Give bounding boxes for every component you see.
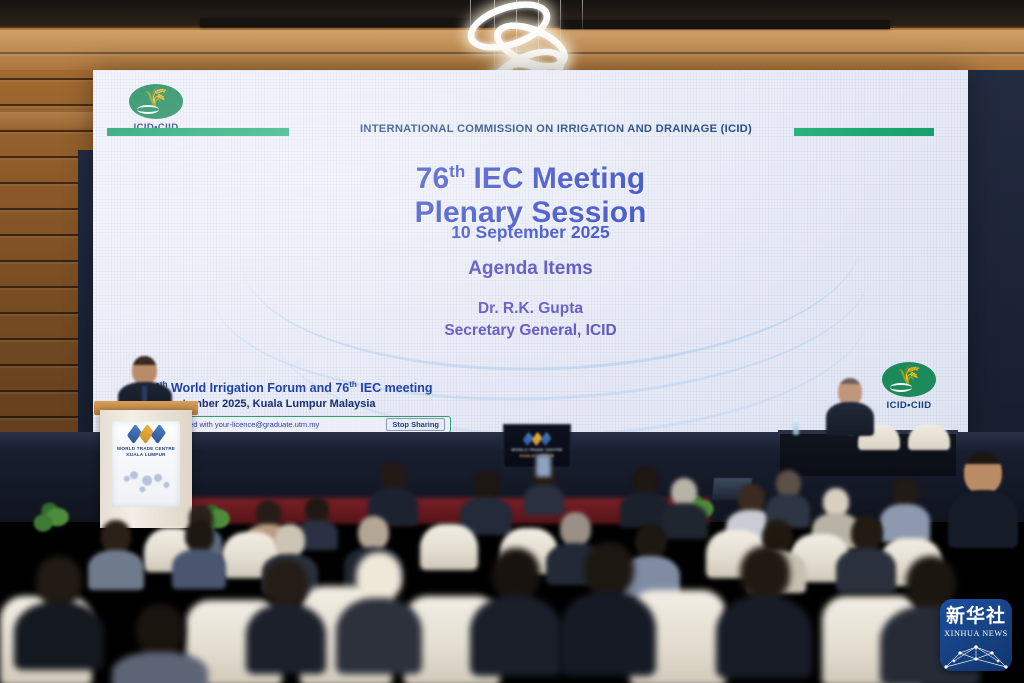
audience-head bbox=[275, 524, 305, 557]
icid-logo-right: 🌾 ICID•CIID bbox=[870, 362, 948, 411]
audience-member-foreground bbox=[336, 552, 422, 670]
audience-head bbox=[101, 520, 131, 553]
audience-torso bbox=[14, 602, 104, 670]
audience-torso bbox=[560, 592, 656, 676]
xinhua-chinese-label: 新华社 bbox=[946, 607, 1006, 626]
speaker-necktie bbox=[142, 386, 147, 402]
wtc-logo-icon bbox=[524, 434, 550, 444]
audience-head bbox=[892, 478, 919, 507]
water-lines-icon bbox=[890, 383, 912, 392]
event-title-line: 4th World Irrigation Forum and 76th IEC … bbox=[153, 380, 573, 397]
water-lines-icon bbox=[137, 105, 159, 114]
audience-head bbox=[738, 484, 765, 513]
audience-head bbox=[671, 478, 697, 506]
light-wire bbox=[582, 0, 583, 30]
auditorium-scene: 🌾 ICID•CIID INTERNATIONAL COMMISSION ON … bbox=[0, 0, 1024, 683]
slide-title: 76th IEC Meeting Plenary Session bbox=[93, 162, 968, 230]
network-graphic-icon bbox=[940, 641, 1012, 671]
slide-speaker-block: Dr. R.K. Gupta Secretary General, ICID bbox=[93, 298, 968, 343]
audience-member-foreground bbox=[470, 548, 562, 672]
audience-head bbox=[964, 452, 1002, 494]
audience-member-foreground bbox=[716, 546, 812, 674]
xinhua-english-label: XINHUA NEWS bbox=[944, 629, 1008, 638]
audience-head bbox=[584, 542, 634, 596]
wtc-diamond-right bbox=[150, 424, 165, 444]
ceiling-beam bbox=[200, 18, 500, 27]
audience-head bbox=[256, 500, 281, 527]
audience-head bbox=[380, 462, 407, 491]
audience-member-raised-phone bbox=[368, 462, 418, 524]
xinhua-news-watermark: 新华社 XINHUA NEWS bbox=[940, 599, 1012, 671]
audience-head bbox=[851, 516, 883, 551]
audience-member-foreground bbox=[246, 560, 326, 670]
audience-head bbox=[358, 516, 389, 550]
audience-torso bbox=[246, 604, 326, 674]
audience-torso bbox=[716, 596, 812, 678]
slide-date: 10 September 2025 bbox=[93, 222, 968, 243]
podium-sign: WORLD TRADE CENTRE KUALA LUMPUR bbox=[112, 421, 180, 507]
audience-head bbox=[776, 470, 801, 497]
water-bottle bbox=[793, 418, 799, 435]
audience-member bbox=[460, 470, 512, 532]
icid-emblem-icon: 🌾 bbox=[882, 362, 936, 397]
audience-torso bbox=[524, 485, 564, 515]
header-accent-bar-left bbox=[107, 128, 289, 136]
light-wire bbox=[560, 0, 561, 44]
event-subtitle-line: 8 September 2025, Kuala Lumpur Malaysia bbox=[153, 397, 573, 412]
audience-torso bbox=[172, 549, 226, 589]
audience-head bbox=[740, 546, 790, 600]
audience-head bbox=[473, 470, 501, 500]
decorative-plant bbox=[30, 495, 74, 535]
podium-city-name: KUALA LUMPUR bbox=[117, 452, 175, 458]
speaker-name: Dr. R.K. Gupta bbox=[93, 298, 968, 320]
audience-member-foreground bbox=[560, 542, 656, 672]
icid-emblem-icon: 🌾 bbox=[129, 84, 183, 119]
audience-torso bbox=[336, 598, 422, 674]
share-status-text: is shared with your-licence@graduate.utm… bbox=[167, 420, 378, 429]
audience-member-foreground-right bbox=[948, 452, 1018, 544]
world-map-graphic bbox=[116, 462, 176, 506]
audience-head bbox=[185, 520, 214, 552]
wtc-logo-icon bbox=[129, 427, 164, 441]
icid-logo-right-label: ICID•CIID bbox=[870, 400, 948, 411]
header-accent-bar-right bbox=[794, 128, 934, 136]
panelist-torso bbox=[826, 402, 874, 436]
wtc-diamond-right bbox=[541, 432, 552, 447]
icid-logo-left: 🌾 ICID•CIID bbox=[117, 84, 195, 133]
audience-member-foreground bbox=[14, 556, 104, 666]
speaker-title: Secretary General, ICID bbox=[93, 320, 968, 342]
screen-share-banner[interactable]: is shared with your-licence@graduate.utm… bbox=[161, 416, 451, 432]
audience-member-with-phone bbox=[524, 455, 564, 511]
audience-head bbox=[560, 512, 591, 546]
slide-title-line1: 76th IEC Meeting bbox=[93, 162, 968, 196]
slide-organization-line: INTERNATIONAL COMMISSION ON IRRIGATION A… bbox=[321, 123, 791, 135]
placard-org-name: WORLD TRADE CENTRE bbox=[511, 447, 562, 453]
audience-member-foreground bbox=[112, 604, 208, 683]
audience-head bbox=[492, 548, 540, 600]
audience-head bbox=[632, 466, 659, 495]
audience-head bbox=[823, 488, 849, 516]
audience-member bbox=[172, 520, 226, 584]
audience-head bbox=[136, 604, 184, 656]
ceiling-beam bbox=[560, 20, 890, 29]
audience-torso bbox=[112, 652, 208, 683]
audience-torso bbox=[948, 490, 1018, 548]
smartphone bbox=[536, 455, 551, 477]
podium-org-label: WORLD TRADE CENTRE KUALA LUMPUR bbox=[117, 446, 175, 458]
audience-head bbox=[264, 560, 308, 608]
stop-sharing-button[interactable]: Stop Sharing bbox=[386, 418, 445, 431]
speaker-head bbox=[132, 356, 157, 385]
panelist bbox=[826, 378, 874, 434]
audience-torso bbox=[470, 596, 562, 676]
panel-chair bbox=[908, 424, 950, 450]
slide-agenda-heading: Agenda Items bbox=[93, 258, 968, 280]
audience-member bbox=[766, 470, 810, 526]
audience-head bbox=[356, 552, 402, 602]
audience-head bbox=[36, 556, 82, 606]
shared-window-title: 4th World Irrigation Forum and 76th IEC … bbox=[153, 380, 573, 412]
